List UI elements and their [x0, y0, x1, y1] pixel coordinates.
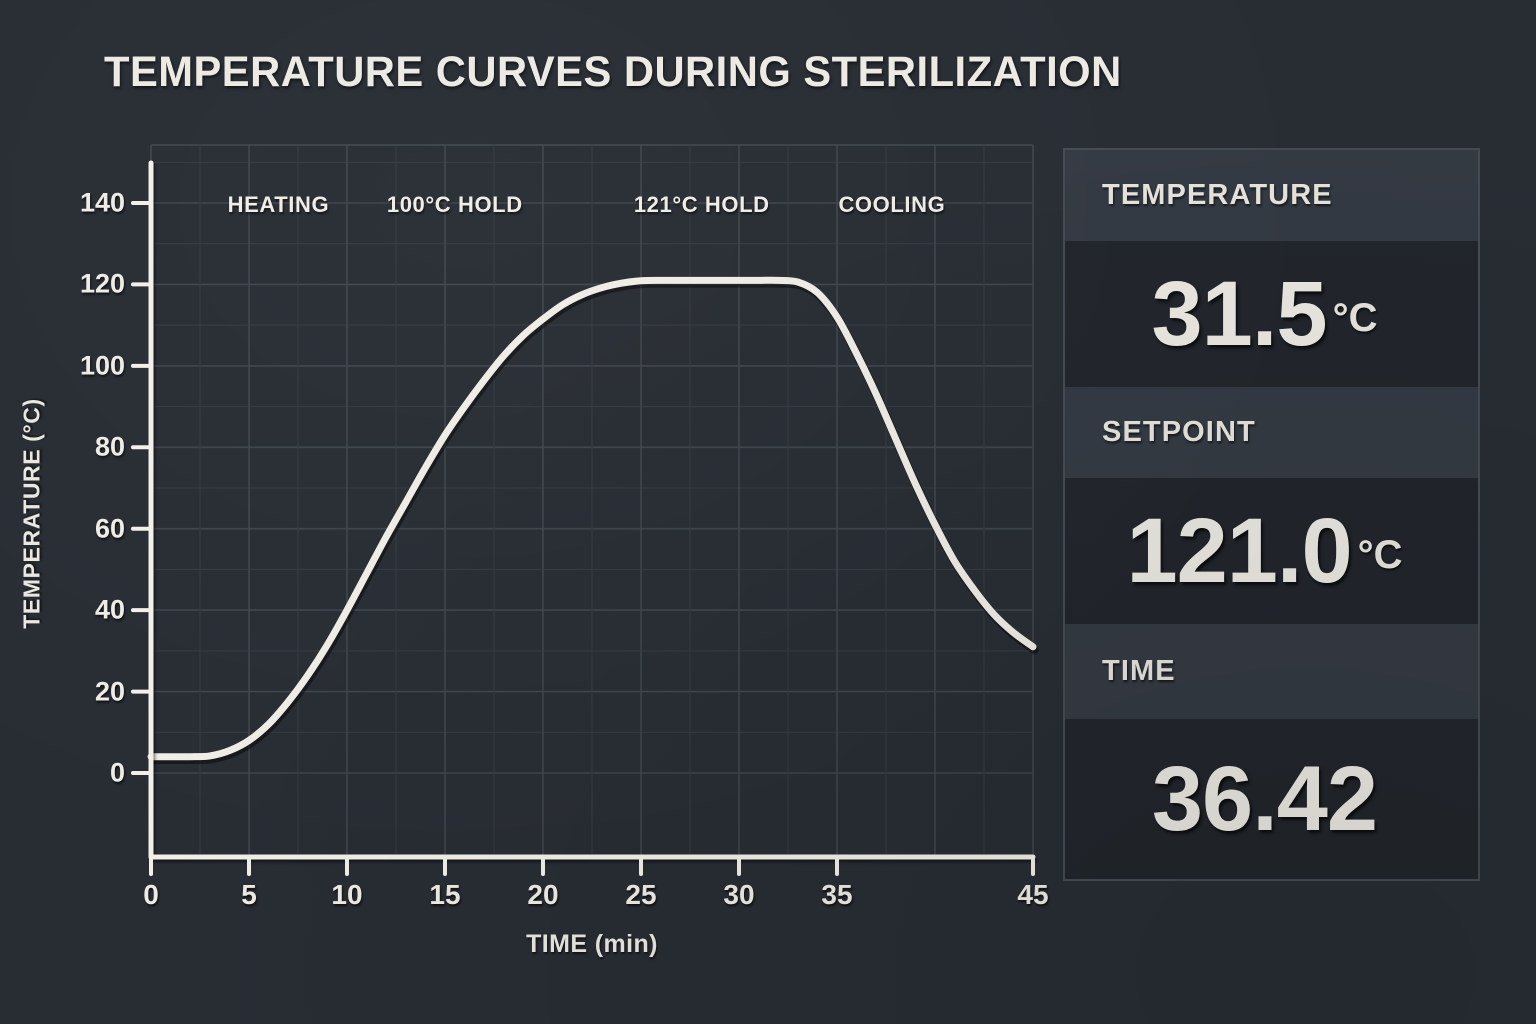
readout-time-label-row: TIME [1065, 624, 1478, 719]
readout-temperature-value-row: 31.5°C [1065, 241, 1478, 387]
y-axis-title: TEMPERATURE (°C) [19, 364, 46, 664]
readout-time-label: TIME [1102, 655, 1176, 688]
y-tick-label: 40 [55, 595, 125, 626]
y-tick-label: 0 [55, 758, 125, 789]
readout-temperature-label: TEMPERATURE [1102, 179, 1333, 212]
y-tick-label: 120 [55, 269, 125, 300]
y-tick-label: 80 [55, 432, 125, 463]
x-tick-label: 25 [606, 879, 676, 911]
y-tick-label: 60 [55, 513, 125, 544]
readout-time-value: 36.42 [1152, 753, 1377, 845]
chart-axes [0, 0, 1060, 1024]
y-tick-label: 140 [55, 188, 125, 219]
readout-setpoint-unit: °C [1358, 533, 1403, 578]
readout-setpoint-label-row: SETPOINT [1065, 387, 1478, 478]
readout-temperature-label-row: TEMPERATURE [1065, 150, 1478, 241]
y-tick-label: 100 [55, 350, 125, 381]
readout-temperature-value: 31.5 [1152, 268, 1327, 360]
x-axis-title: TIME (min) [151, 930, 1033, 959]
x-tick-label: 20 [508, 879, 578, 911]
readout-setpoint-value-row: 121.0°C [1065, 478, 1478, 624]
readout-time-value-row: 36.42 [1065, 719, 1478, 879]
chart-plot-area: 020406080100120140 0510152025303545 HEAT… [0, 0, 1060, 1024]
phase-label: 100°C HOLD [387, 192, 523, 218]
readout-setpoint-value: 121.0 [1126, 505, 1351, 597]
x-tick-label: 0 [116, 879, 186, 911]
readout-temperature-unit: °C [1333, 296, 1378, 341]
x-tick-label: 5 [214, 879, 284, 911]
x-tick-label: 30 [704, 879, 774, 911]
x-tick-label: 35 [802, 879, 872, 911]
readout-panel: TEMPERATURE31.5°CSETPOINT121.0°CTIME36.4… [1063, 148, 1480, 881]
phase-label: HEATING [228, 192, 330, 218]
y-tick-label: 20 [55, 676, 125, 707]
readout-setpoint-label: SETPOINT [1102, 416, 1256, 449]
x-tick-label: 15 [410, 879, 480, 911]
phase-label: 121°C HOLD [634, 192, 770, 218]
x-tick-label: 45 [998, 879, 1068, 911]
x-tick-label: 10 [312, 879, 382, 911]
phase-label: COOLING [838, 192, 945, 218]
